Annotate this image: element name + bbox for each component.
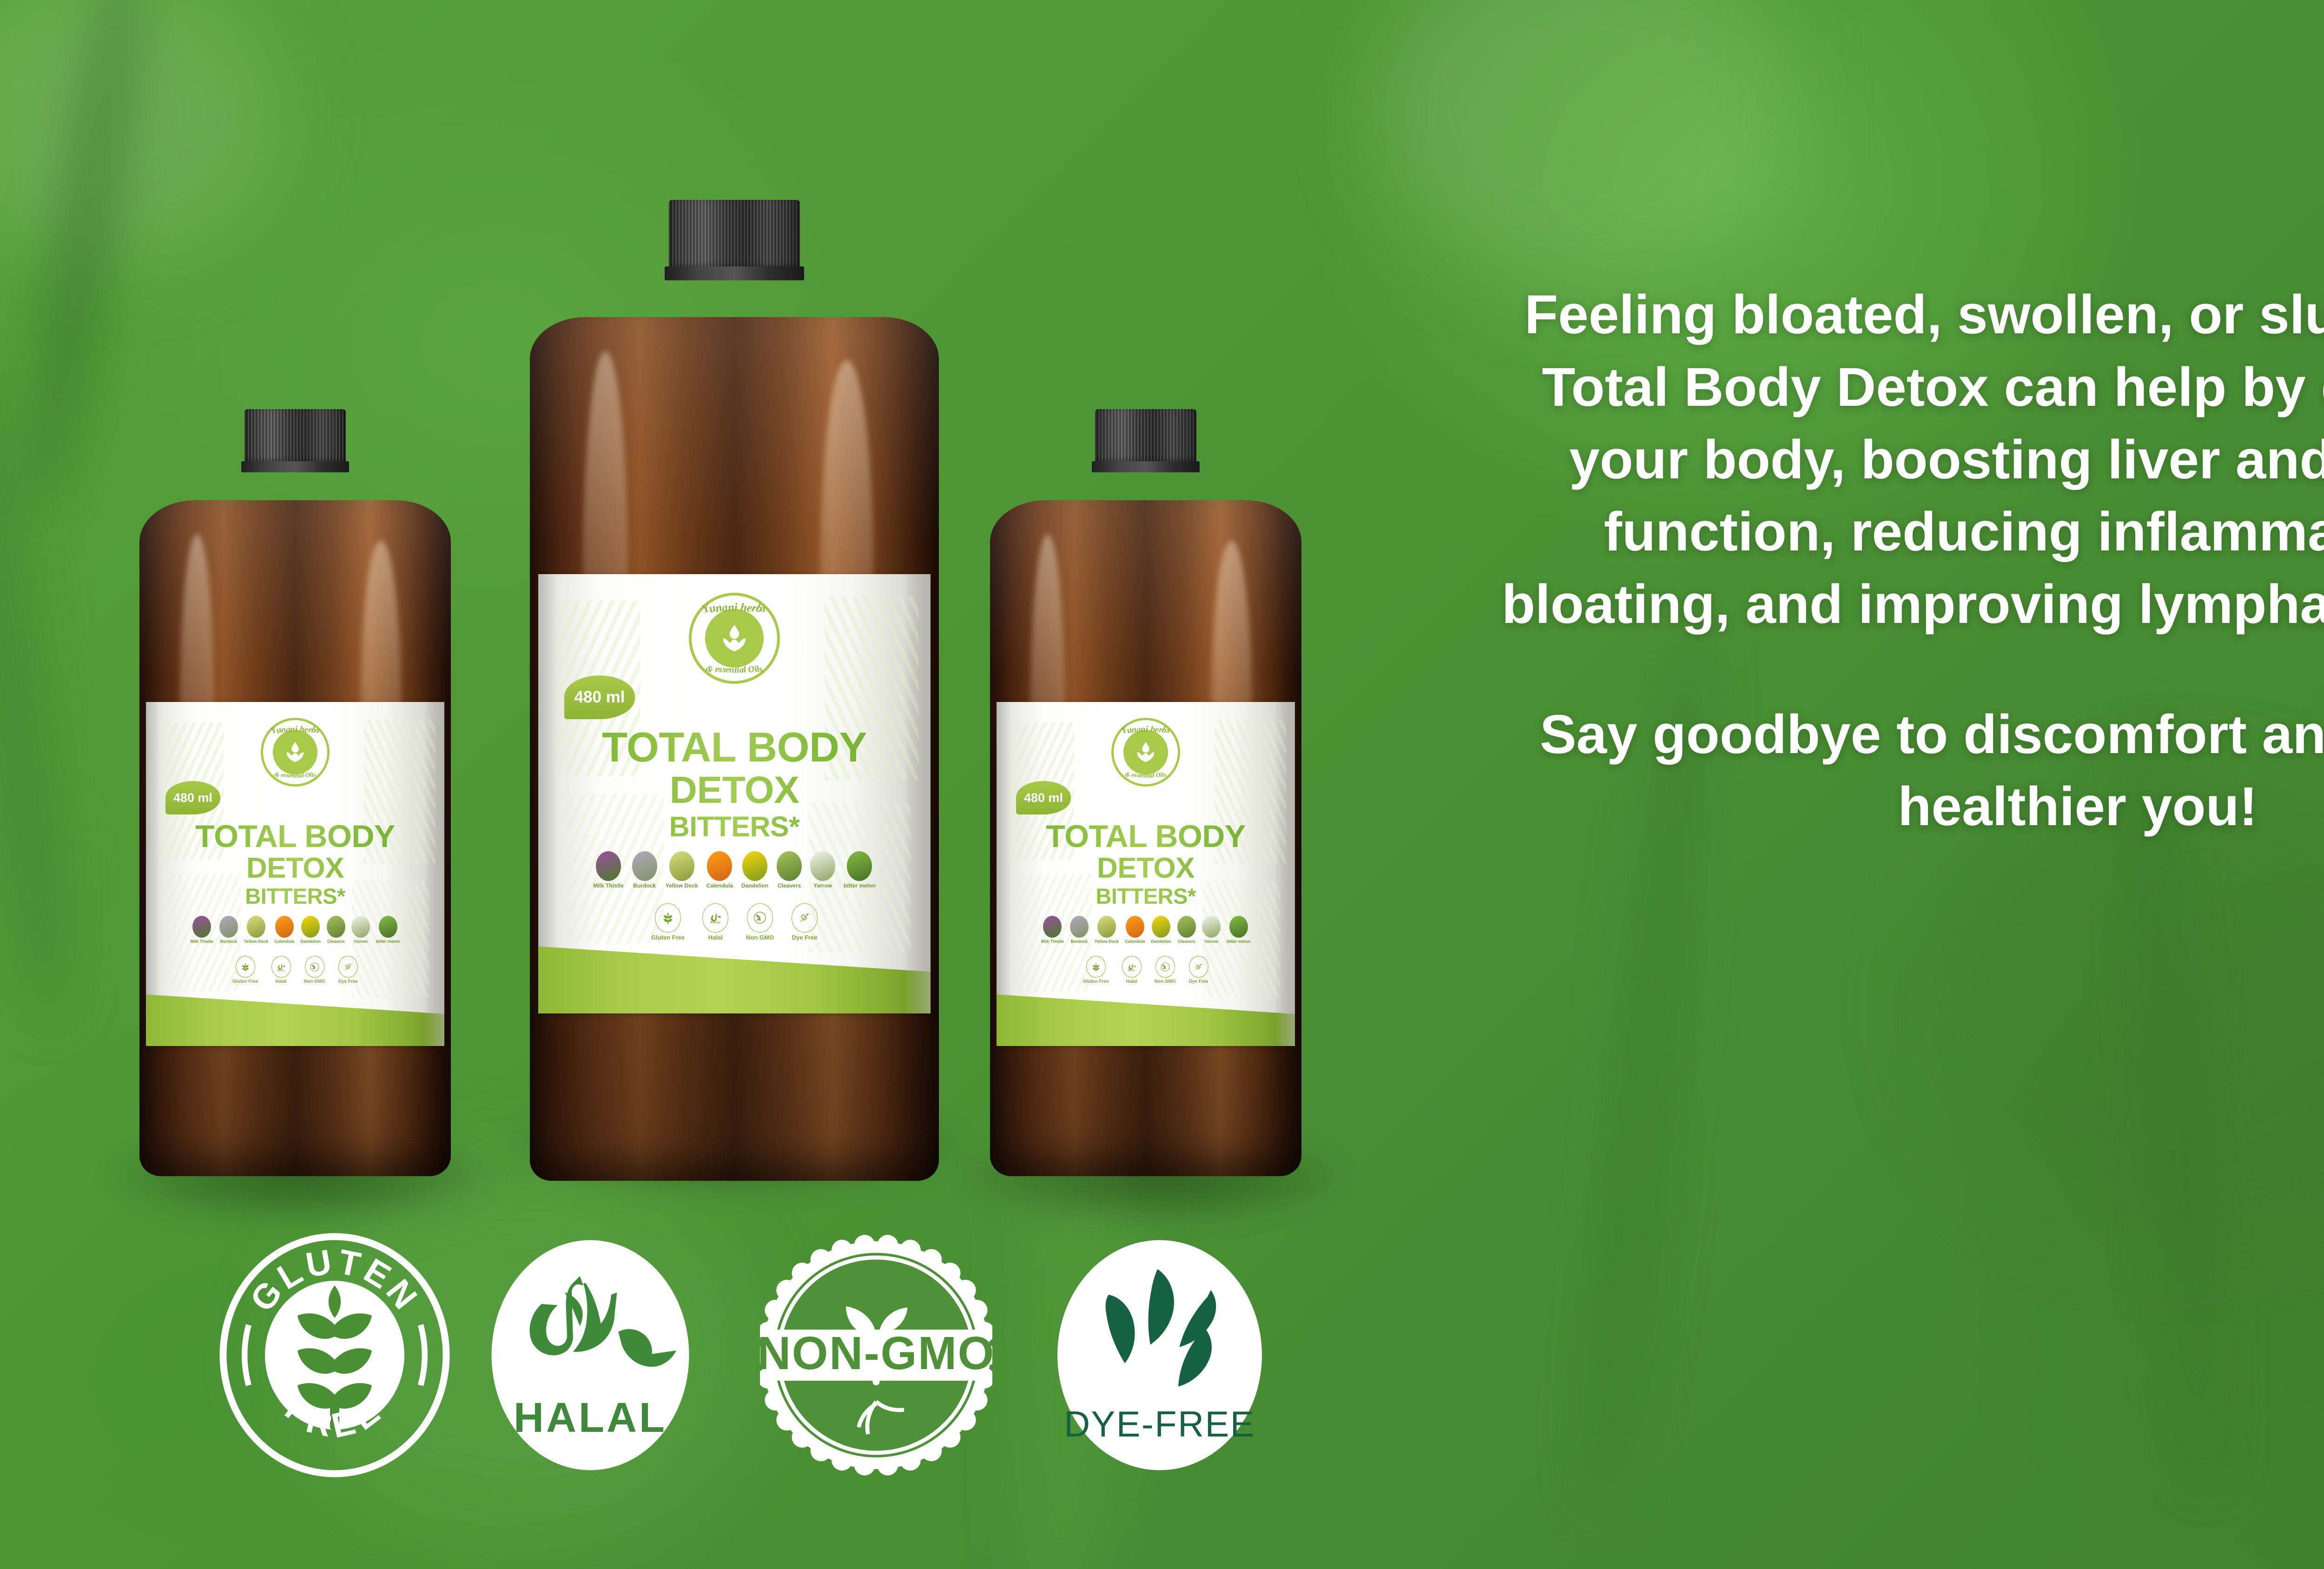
ingredient-name: Milk Thistle — [191, 939, 213, 944]
ingredient-item: Yarrow — [351, 916, 370, 944]
product-title-line-1: TOTAL BODY — [538, 724, 931, 772]
dropper-crossed-icon — [1194, 962, 1204, 972]
badge-halal-text: HALAL — [514, 1395, 667, 1441]
product-title-line-3: BITTERS* — [538, 810, 931, 843]
sprout-seal-icon — [305, 956, 324, 978]
halal-arabic-icon: HALAL — [271, 956, 291, 978]
brand-name-top: Yunani herbs — [263, 724, 327, 735]
ingredient-item: Milk Thistle — [191, 916, 213, 944]
dye-free-seal-icon: DYE-FREE — [1055, 1237, 1264, 1474]
badge-non-gmo[interactable]: NON-GMO — [760, 1227, 992, 1483]
label-certification-item: HALAL Halal — [1122, 956, 1142, 984]
label-certification-name: Halal — [708, 934, 723, 941]
product-bottle-center[interactable]: Yunani herbs & essential Oils 480 ml TOT… — [530, 200, 939, 1181]
certification-badge-row: GLUTEN FREE HALAL — [218, 1227, 1287, 1488]
brand-logo: Yunani herbs & essential Oils — [689, 593, 780, 684]
label-certification-item: Non GMO — [1155, 956, 1176, 984]
marketing-copy: Feeling bloated, swollen, or sluggish? T… — [1501, 279, 2324, 843]
ingredient-item: Burdock — [632, 851, 657, 889]
sprout-seal-icon — [1155, 956, 1175, 978]
label-certification-item: Dye Free — [792, 903, 818, 941]
ingredient-item: Dandelion — [300, 916, 321, 944]
brand-logo: Yunani herbs & essential Oils — [1111, 718, 1180, 787]
label-certification-name: Non GMO — [1155, 979, 1176, 984]
wheat-stalk-icon — [1091, 962, 1101, 972]
non-gmo-seal-icon: NON-GMO — [760, 1227, 992, 1483]
brand-name-top: Yunani herbs — [1114, 724, 1178, 735]
bottle-label: Yunani herbs & essential Oils 480 ml TOT… — [997, 702, 1295, 1046]
label-certification-name: Gluten Free — [232, 979, 258, 984]
copy-paragraph-2: Say goodbye to discomfort and hello to a… — [1501, 699, 2324, 844]
ingredient-item: Yellow Dock — [666, 851, 698, 889]
ingredient-item: Burdock — [219, 916, 238, 944]
label-certification-name: Halal — [276, 979, 287, 984]
ingredient-name: Yarrow — [354, 939, 368, 944]
ingredient-name: Milk Thistle — [1041, 939, 1064, 944]
sprout-seal-icon — [310, 962, 320, 972]
product-bottle-right[interactable]: Yunani herbs & essential Oils 480 ml TOT… — [990, 409, 1301, 1176]
wheat-stalk-icon — [240, 962, 251, 972]
label-certification-name: Non GMO — [746, 934, 774, 941]
dropper-crossed-icon — [798, 911, 812, 925]
label-certification-name: Dye Free — [338, 979, 358, 984]
ingredient-photo — [275, 916, 294, 938]
brand-logo: Yunani herbs & essential Oils — [261, 718, 330, 787]
ingredient-photo — [596, 851, 621, 881]
ingredient-name: Yellow Dock — [244, 939, 269, 944]
ingredient-photo — [1126, 916, 1144, 938]
brand-name-bottom: & essential Oils — [692, 665, 777, 675]
ingredient-name: Calendula — [706, 882, 733, 889]
badge-dye-free[interactable]: DYE-FREE — [1055, 1237, 1264, 1474]
ingredient-photo — [192, 916, 211, 938]
ingredient-name: Yarrow — [1204, 939, 1218, 944]
bottle-cap — [244, 409, 346, 464]
badge-halal[interactable]: HALAL — [488, 1237, 693, 1474]
ingredient-name: Milk Thistle — [593, 882, 623, 889]
ingredient-name: Dandelion — [1151, 939, 1171, 944]
ingredient-name: Burdock — [633, 882, 656, 889]
brand-logo-inner — [1123, 730, 1168, 775]
ingredient-photo — [1097, 916, 1116, 938]
label-certification-name: Halal — [1126, 979, 1137, 984]
sprout-seal-icon — [1160, 962, 1170, 972]
label-side-strip — [424, 702, 444, 1046]
wheat-stalk-icon — [655, 903, 681, 933]
badge-gluten-free[interactable]: GLUTEN FREE — [218, 1232, 451, 1478]
ingredient-name: Yellow Dock — [1095, 939, 1119, 944]
ingredient-item: Yellow Dock — [244, 916, 269, 944]
bottle-label: Yunani herbs & essential Oils 480 ml TOT… — [146, 702, 444, 1046]
bottle-cap — [669, 200, 800, 270]
brand-name-top: Yunani herbs — [692, 601, 777, 614]
bottle-cap — [1095, 409, 1196, 464]
ingredient-photo — [301, 916, 320, 938]
svg-text:HALAL: HALAL — [710, 921, 720, 925]
ingredient-name: Yarrow — [813, 882, 832, 889]
ingredient-item: Cleavers — [1177, 916, 1196, 944]
product-title-line-1: TOTAL BODY — [997, 818, 1295, 854]
svg-text:HALAL: HALAL — [1128, 969, 1135, 972]
copy-paragraph-1: Feeling bloated, swollen, or sluggish? T… — [1501, 279, 2324, 641]
ingredient-item: bitter melon — [844, 851, 876, 889]
label-certification-name: Gluten Free — [1083, 979, 1109, 984]
ingredient-row: Milk Thistle Burdock Yellow Dock Calendu… — [997, 916, 1295, 944]
bottle-label: Yunani herbs & essential Oils 480 ml TOT… — [538, 574, 931, 1013]
label-certification-row: Gluten Free HALAL Halal Non GMO — [538, 903, 931, 941]
wheat-stalk-icon — [1086, 956, 1106, 978]
brand-name-bottom: & essential Oils — [263, 773, 327, 780]
dropper-crossed-icon — [343, 962, 353, 972]
label-certification-item: HALAL Halal — [702, 903, 728, 941]
ingredient-item: Dandelion — [741, 851, 768, 889]
ingredient-photo — [351, 916, 370, 938]
ingredient-name: Cleavers — [327, 939, 345, 944]
ingredient-name: Cleavers — [1178, 939, 1195, 944]
badge-non-gmo-text: NON-GMO — [760, 1327, 992, 1379]
halal-seal-icon: HALAL — [488, 1237, 693, 1474]
label-certification-name: Gluten Free — [651, 934, 685, 941]
wheat-stalk-icon — [236, 956, 255, 978]
ingredient-name: Calendula — [274, 939, 294, 944]
ingredient-photo — [1152, 916, 1170, 938]
ingredient-photo — [327, 916, 345, 938]
label-side-strip — [1274, 702, 1295, 1046]
ingredient-row: Milk Thistle Burdock Yellow Dock Calendu… — [146, 916, 444, 944]
ingredient-name: Dandelion — [741, 882, 768, 889]
label-certification-item: Gluten Free — [232, 956, 258, 984]
ingredient-photo — [1070, 916, 1089, 938]
volume-badge: 480 ml — [564, 675, 635, 719]
dropper-crossed-icon — [1189, 956, 1208, 978]
product-title-line-2: DETOX — [538, 768, 931, 812]
badge-dye-free-text: DYE-FREE — [1064, 1404, 1255, 1444]
brand-logo-inner — [273, 730, 317, 775]
ingredient-name: Yellow Dock — [666, 882, 698, 889]
ingredient-item: Yarrow — [1202, 916, 1221, 944]
halal-arabic-icon: HALAL — [1122, 956, 1142, 978]
halal-arabic-icon: HALAL — [708, 911, 722, 925]
label-certification-row: Gluten Free HALAL Halal Non GMO — [146, 956, 444, 984]
label-certification-row: Gluten Free HALAL Halal Non GMO — [997, 956, 1295, 984]
ingredient-photo — [777, 851, 802, 881]
label-certification-item: Dye Free — [338, 956, 358, 984]
ingredient-item: Dandelion — [1151, 916, 1171, 944]
ingredient-item: bitter melon — [1227, 916, 1251, 944]
ingredient-item: Calendula — [706, 851, 733, 889]
ingredient-name: bitter melon — [1227, 939, 1251, 944]
ingredient-name: Burdock — [220, 939, 237, 944]
ingredient-photo — [1177, 916, 1196, 938]
ingredient-item: Milk Thistle — [593, 851, 623, 889]
hands-holding-droplet-icon — [281, 738, 310, 767]
label-certification-item: Gluten Free — [651, 903, 685, 941]
product-title-line-1: TOTAL BODY — [146, 818, 444, 854]
product-title-line-2: DETOX — [146, 852, 444, 885]
label-side-strip — [905, 574, 931, 1013]
dropper-crossed-icon — [338, 956, 358, 978]
ingredient-name: Calendula — [1125, 939, 1145, 944]
gluten-free-seal-icon: GLUTEN FREE — [218, 1232, 451, 1478]
ingredient-name: Cleavers — [778, 882, 801, 889]
sprout-seal-icon — [753, 911, 767, 925]
label-certification-name: Non GMO — [304, 979, 325, 984]
product-title-line-3: BITTERS* — [997, 883, 1295, 909]
sprout-seal-icon — [747, 903, 773, 933]
ingredient-item: Burdock — [1070, 916, 1089, 944]
ingredient-row: Milk Thistle Burdock Yellow Dock Calendu… — [538, 851, 931, 889]
product-bottle-left[interactable]: Yunani herbs & essential Oils 480 ml TOT… — [139, 409, 451, 1176]
ingredient-name: Dandelion — [300, 939, 321, 944]
wheat-stalk-icon — [661, 911, 675, 925]
label-certification-item: Dye Free — [1189, 956, 1208, 984]
volume-badge: 480 ml — [1016, 781, 1071, 814]
svg-text:HALAL: HALAL — [277, 969, 284, 972]
ingredient-item: bitter melon — [376, 916, 400, 944]
ingredient-photo — [847, 851, 872, 881]
ingredient-item: Calendula — [274, 916, 294, 944]
ingredient-photo — [379, 916, 397, 938]
label-certification-name: Dye Free — [1189, 979, 1208, 984]
ingredient-photo — [1043, 916, 1062, 938]
ingredient-photo — [707, 851, 732, 881]
brand-name-bottom: & essential Oils — [1114, 773, 1178, 780]
volume-badge: 480 ml — [165, 781, 220, 814]
ingredient-photo — [219, 916, 238, 938]
hands-holding-droplet-icon — [715, 619, 753, 657]
ingredient-photo — [742, 851, 767, 881]
ingredient-photo — [1229, 916, 1248, 938]
product-title-line-2: DETOX — [997, 852, 1295, 885]
ingredient-item: Calendula — [1125, 916, 1145, 944]
halal-arabic-icon: HALAL — [702, 903, 728, 933]
ingredient-item: Milk Thistle — [1041, 916, 1064, 944]
label-certification-item: HALAL Halal — [271, 956, 291, 984]
dropper-crossed-icon — [792, 903, 818, 933]
halal-arabic-icon: HALAL — [1127, 962, 1137, 972]
ingredient-item: Yarrow — [810, 851, 835, 889]
ingredient-name: bitter melon — [376, 939, 400, 944]
label-certification-item: Gluten Free — [1083, 956, 1109, 984]
ingredient-photo — [669, 851, 694, 881]
ingredient-item: Cleavers — [777, 851, 802, 889]
hands-holding-droplet-icon — [1131, 738, 1160, 767]
ingredient-photo — [1202, 916, 1221, 938]
ingredient-photo — [247, 916, 265, 938]
ingredient-name: Burdock — [1070, 939, 1088, 944]
ingredient-name: bitter melon — [844, 882, 876, 889]
label-certification-item: Non GMO — [304, 956, 325, 984]
ingredient-photo — [632, 851, 657, 881]
label-certification-name: Dye Free — [792, 934, 818, 941]
brand-logo-inner — [705, 609, 764, 668]
product-title-line-3: BITTERS* — [146, 883, 444, 909]
ingredient-photo — [810, 851, 835, 881]
halal-arabic-icon: HALAL — [276, 962, 286, 972]
ingredient-item: Yellow Dock — [1095, 916, 1119, 944]
label-certification-item: Non GMO — [746, 903, 774, 941]
ingredient-item: Cleavers — [327, 916, 345, 944]
